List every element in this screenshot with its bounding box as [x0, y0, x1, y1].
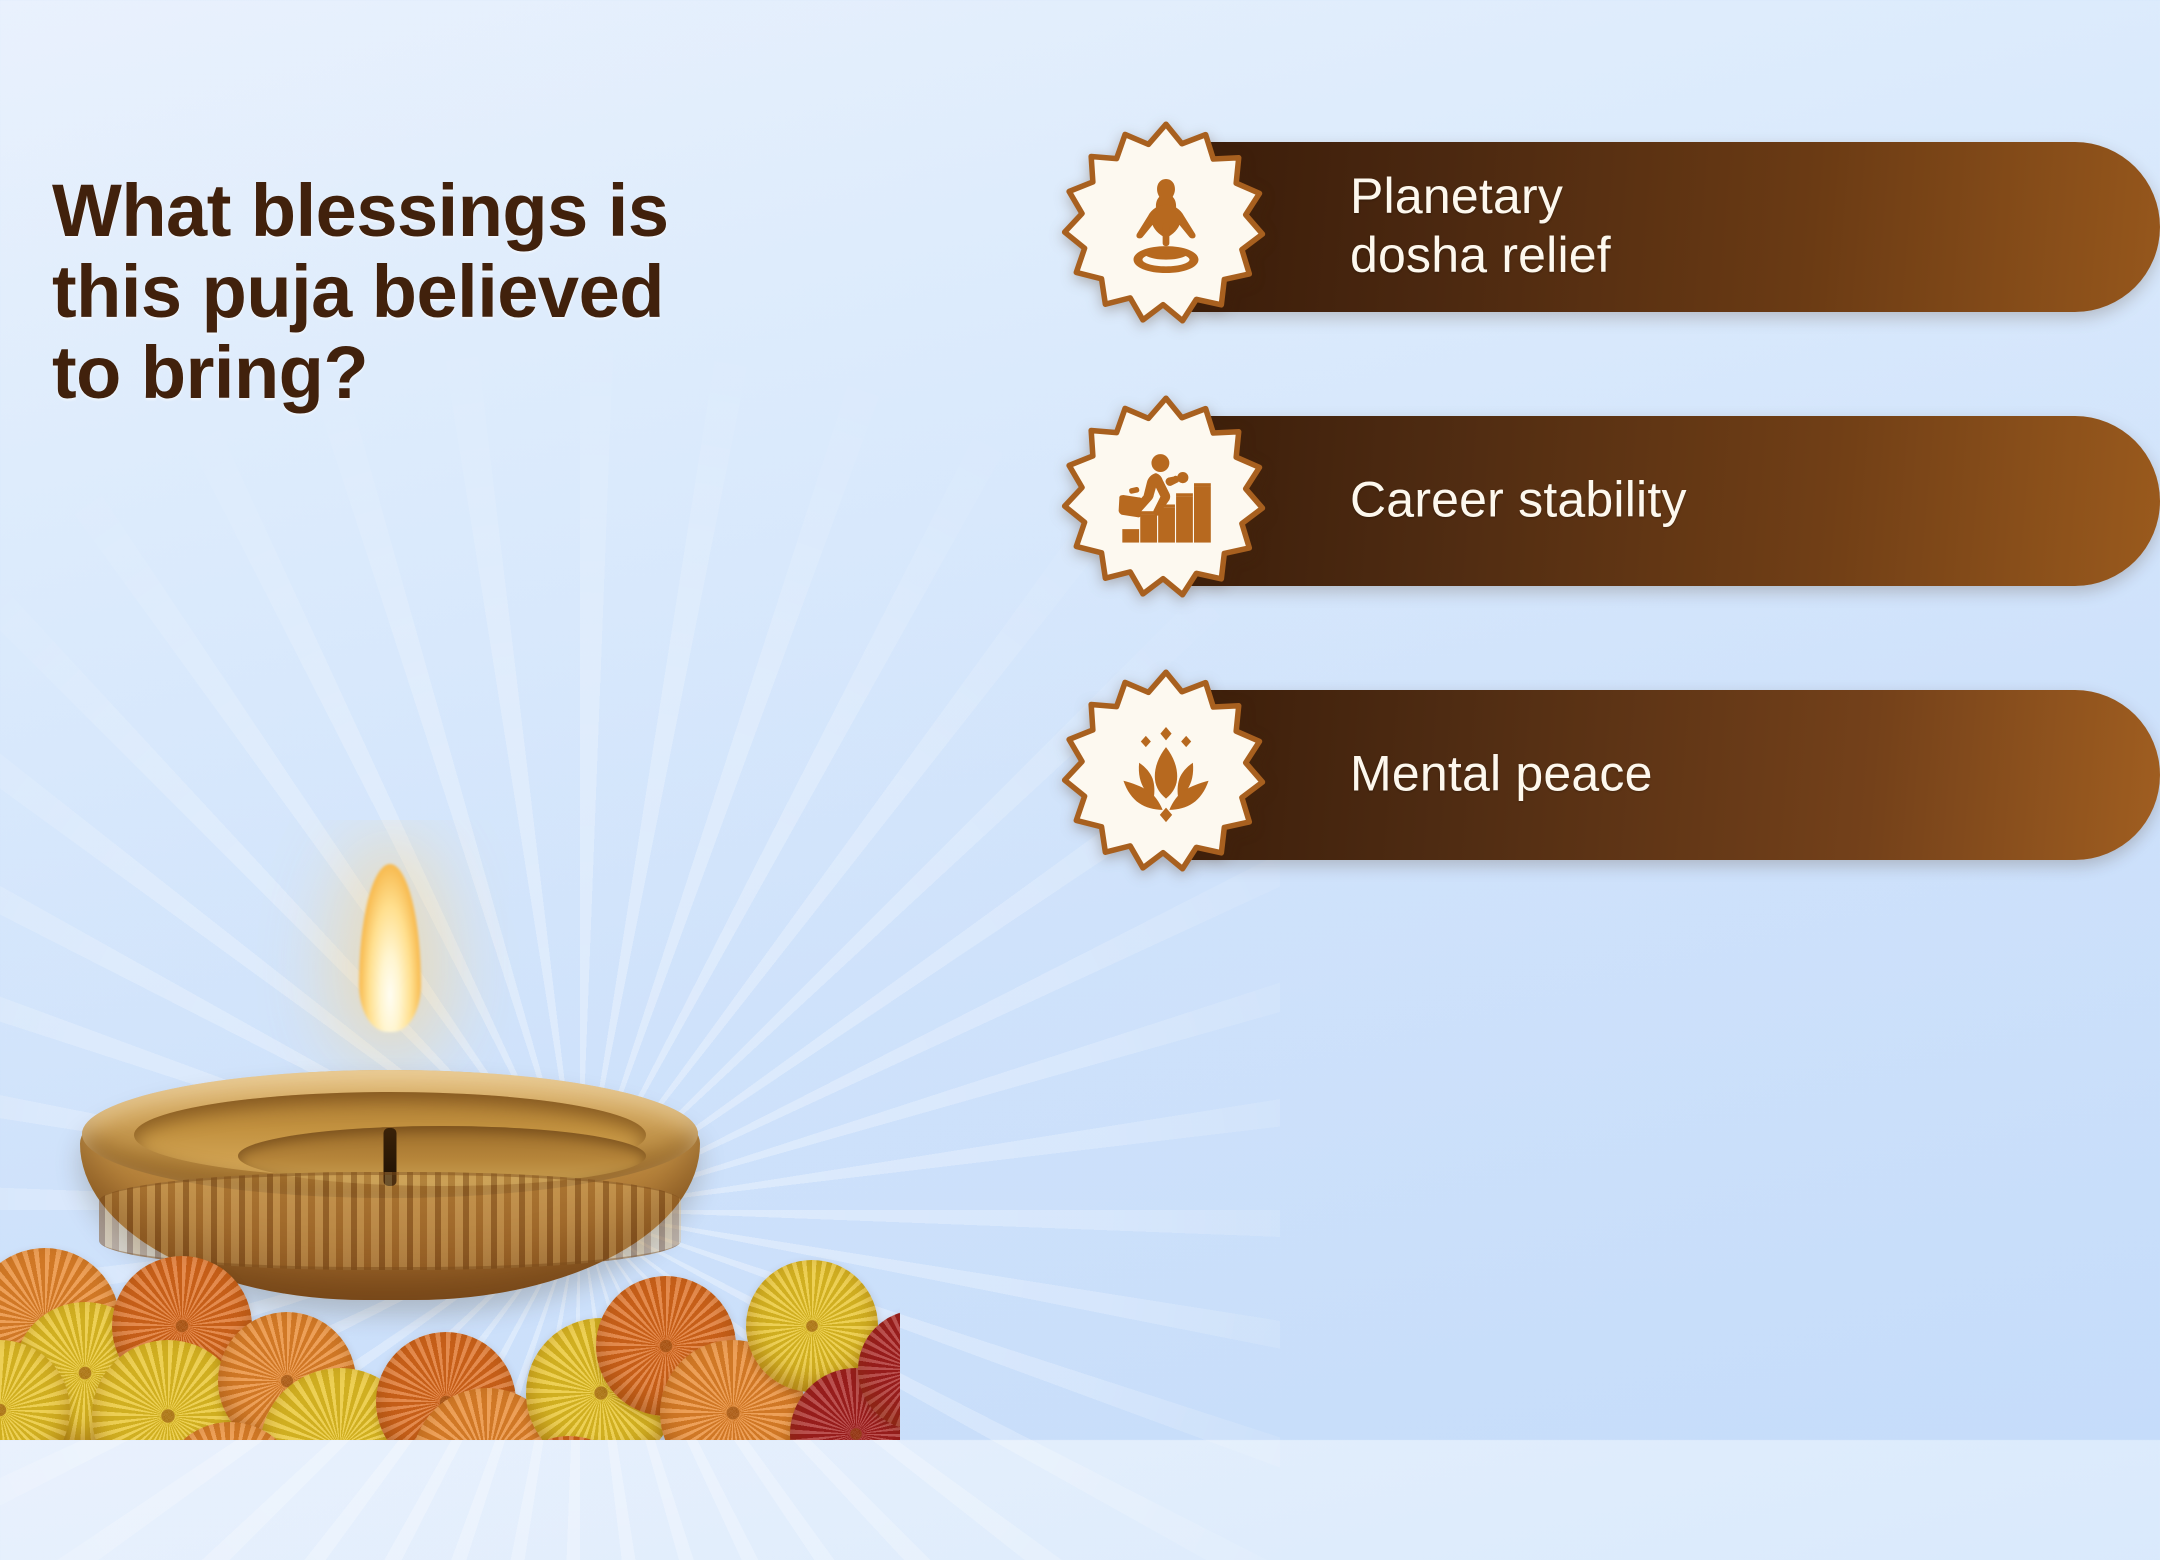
lamp-well	[238, 1126, 646, 1186]
brass-diya-lamp	[80, 970, 700, 1300]
options-list: Planetary dosha relief	[1060, 120, 2140, 880]
lamp-rim-inner	[134, 1092, 646, 1178]
badge-frame	[1060, 120, 1272, 332]
option-label: Mental peace	[1350, 745, 1653, 804]
page-title: What blessings is this puja believed to …	[52, 170, 752, 414]
badge-frame	[1060, 668, 1272, 880]
meditating-figure-icon	[1060, 120, 1272, 332]
marigold-cluster	[0, 1190, 900, 1440]
lamp-bowl	[80, 1070, 700, 1300]
lamp-rim	[82, 1070, 698, 1198]
diya-photo	[0, 820, 900, 1440]
career-growth-icon	[1060, 394, 1272, 606]
option-pill[interactable]	[1190, 142, 2160, 312]
option-item[interactable]: Career stability	[1060, 394, 2140, 606]
flame-icon	[359, 864, 421, 1032]
option-item[interactable]: Mental peace	[1060, 668, 2140, 880]
lotus-flower-icon	[1060, 668, 1272, 880]
option-label: Career stability	[1350, 471, 1687, 530]
lamp-engraving-band	[99, 1172, 682, 1270]
option-pill[interactable]	[1190, 690, 2160, 860]
lamp-wick	[384, 1128, 397, 1186]
option-item[interactable]: Planetary dosha relief	[1060, 120, 2140, 332]
option-label: Planetary dosha relief	[1350, 167, 1611, 285]
badge-frame	[1060, 394, 1272, 606]
